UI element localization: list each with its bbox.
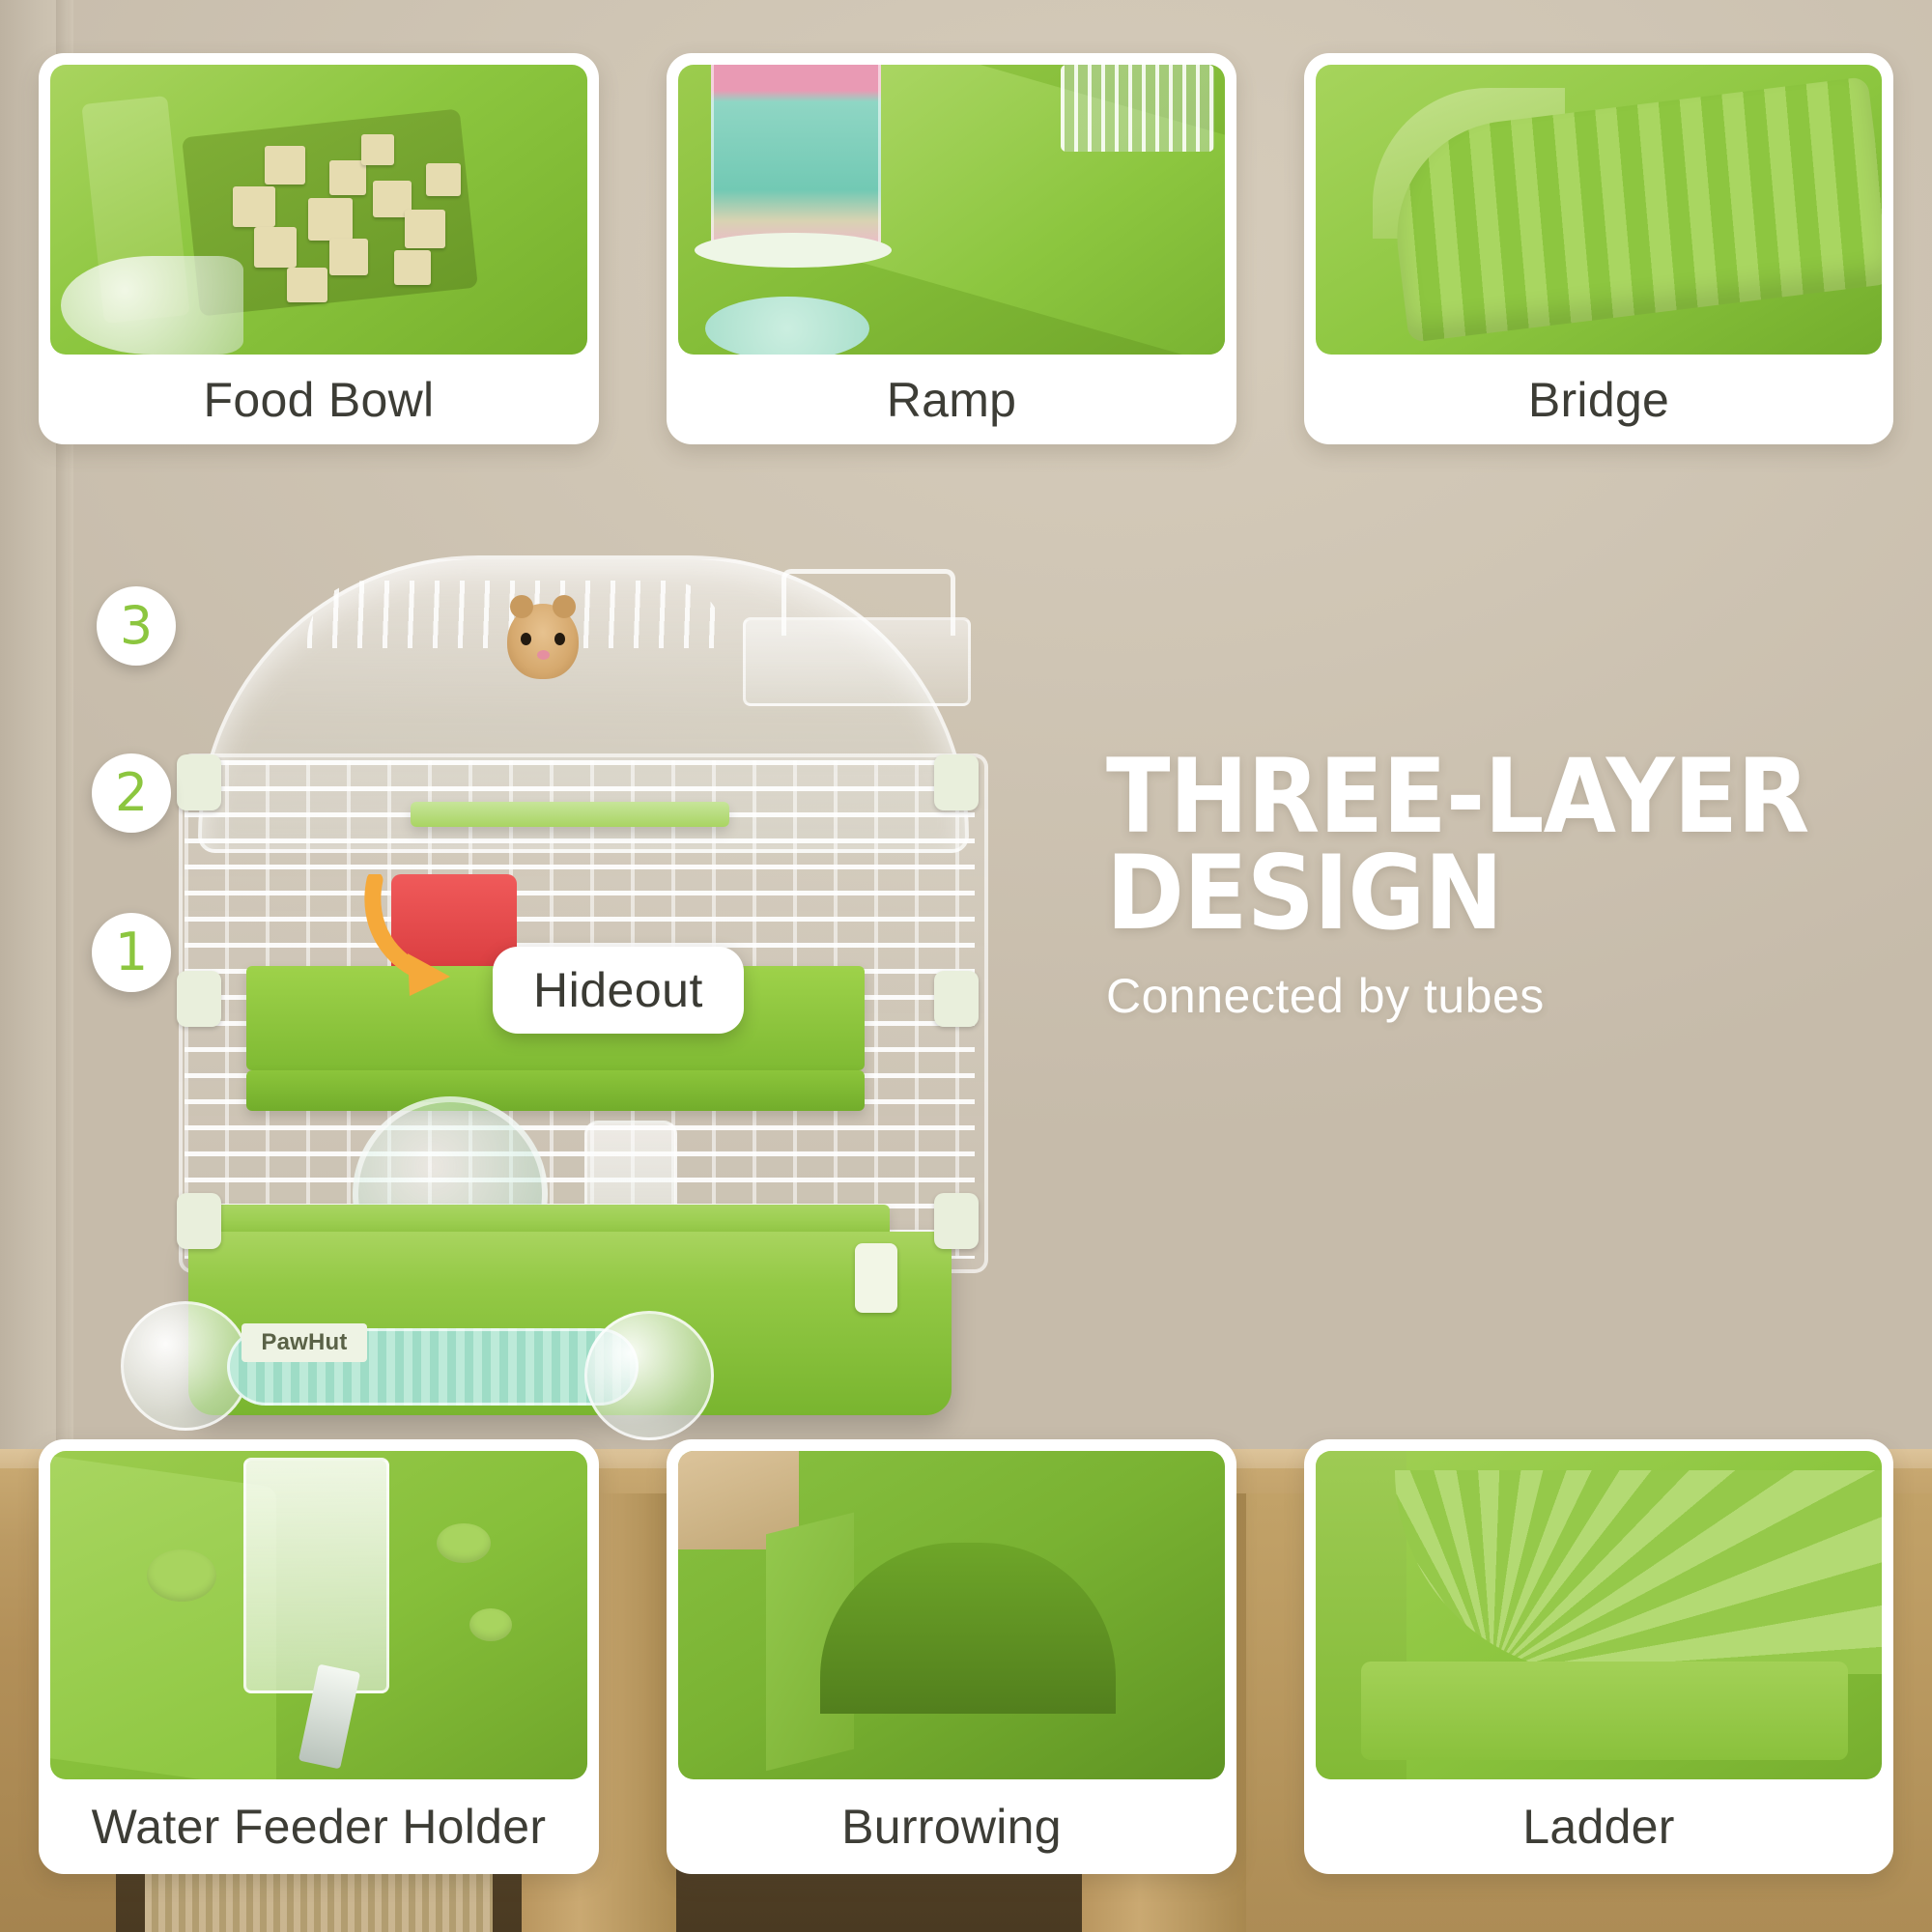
headline-line-1: THREE-LAYER: [1106, 749, 1844, 845]
cage-corner-clip-mid-right: [934, 971, 979, 1027]
hamster-eye-left: [521, 633, 531, 645]
cage-level-2-platform-edge: [246, 1070, 865, 1111]
feature-card-ramp-label: Ramp: [667, 355, 1236, 444]
ramp-photo: [678, 65, 1225, 355]
food-bowl-photo: [50, 65, 587, 355]
cage-corner-clip-bottom-right: [934, 1193, 979, 1249]
hamster-nose: [537, 650, 550, 660]
feature-card-water-feeder-holder: Water Feeder Holder: [39, 1439, 599, 1874]
layer-badge-1: 1: [92, 913, 171, 992]
feature-card-burrowing: Burrowing: [667, 1439, 1236, 1874]
hamster-eye-right: [554, 633, 565, 645]
cage-level-3-platform: [411, 802, 729, 827]
brand-logo-plate: PawHut: [241, 1323, 367, 1362]
feature-card-bridge-label: Bridge: [1304, 355, 1893, 444]
feature-card-water-feeder-holder-label: Water Feeder Holder: [39, 1779, 599, 1874]
bridge-photo: [1316, 65, 1882, 355]
cage-side-latch: [855, 1243, 897, 1313]
cage-tube-ball-right: [584, 1311, 714, 1440]
layer-badge-2: 2: [92, 753, 171, 833]
layer-badge-3: 3: [97, 586, 176, 666]
cage-corner-clip-mid-left: [177, 971, 221, 1027]
feature-card-ladder: Ladder: [1304, 1439, 1893, 1874]
feature-card-food-bowl: Food Bowl: [39, 53, 599, 444]
feature-card-ramp: Ramp: [667, 53, 1236, 444]
feature-card-ladder-label: Ladder: [1304, 1779, 1893, 1874]
cage-corner-clip-top-left: [177, 754, 221, 810]
layer-badge-1-number: 1: [115, 926, 148, 979]
feature-card-burrowing-label: Burrowing: [667, 1779, 1236, 1874]
hamster-pet: [507, 604, 579, 679]
brand-name: PawHut: [261, 1329, 347, 1356]
hideout-callout-pill: Hideout: [493, 947, 744, 1034]
feature-card-bridge: Bridge: [1304, 53, 1893, 444]
layer-badge-2-number: 2: [115, 767, 148, 819]
headline-subtitle: Connected by tubes: [1106, 968, 1908, 1024]
feature-card-food-bowl-label: Food Bowl: [39, 355, 599, 444]
curved-arrow-down-icon: [357, 874, 493, 1009]
hood-vent-panel: [743, 617, 971, 706]
infographic-canvas: PawHut 3 2 1 Hideout THREE-LAYER DESIGN …: [0, 0, 1932, 1932]
cage-corner-clip-bottom-left: [177, 1193, 221, 1249]
ladder-photo: [1316, 1451, 1882, 1779]
headline-line-2: DESIGN: [1106, 845, 1844, 942]
cage-corner-clip-top-right: [934, 754, 979, 810]
water-feeder-holder-photo: [50, 1451, 587, 1779]
headline-block: THREE-LAYER DESIGN Connected by tubes: [1106, 749, 1908, 1024]
layer-badge-3-number: 3: [120, 600, 153, 652]
burrowing-photo: [678, 1451, 1225, 1779]
hideout-callout-label: Hideout: [533, 963, 703, 1017]
